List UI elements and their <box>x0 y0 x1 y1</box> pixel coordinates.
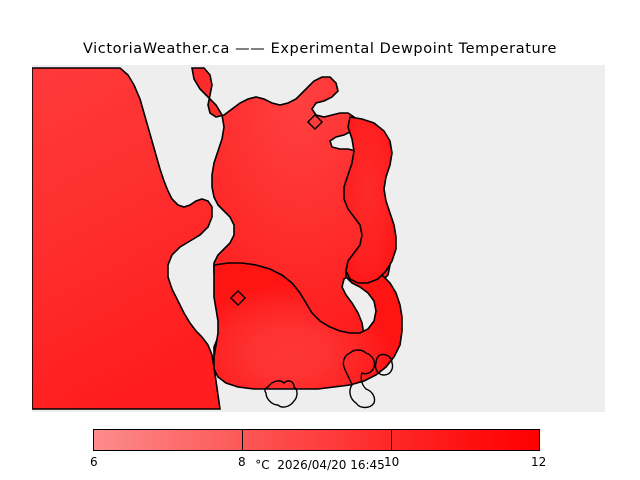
colorbar-caption: °C 2026/04/20 16:45 <box>0 458 640 472</box>
page-title: VictoriaWeather.ca —— Experimental Dewpo… <box>0 41 640 57</box>
colorbar-tick-8 <box>242 429 243 451</box>
colorbar: 6 8 10 12 <box>93 429 540 451</box>
map-plot-area <box>32 65 605 412</box>
landmass-east-lobe <box>344 117 396 283</box>
landmass-west <box>32 68 220 409</box>
colorbar-tick-10 <box>391 429 392 451</box>
map-land-layer <box>32 65 605 412</box>
colorbar-gradient <box>93 429 540 451</box>
